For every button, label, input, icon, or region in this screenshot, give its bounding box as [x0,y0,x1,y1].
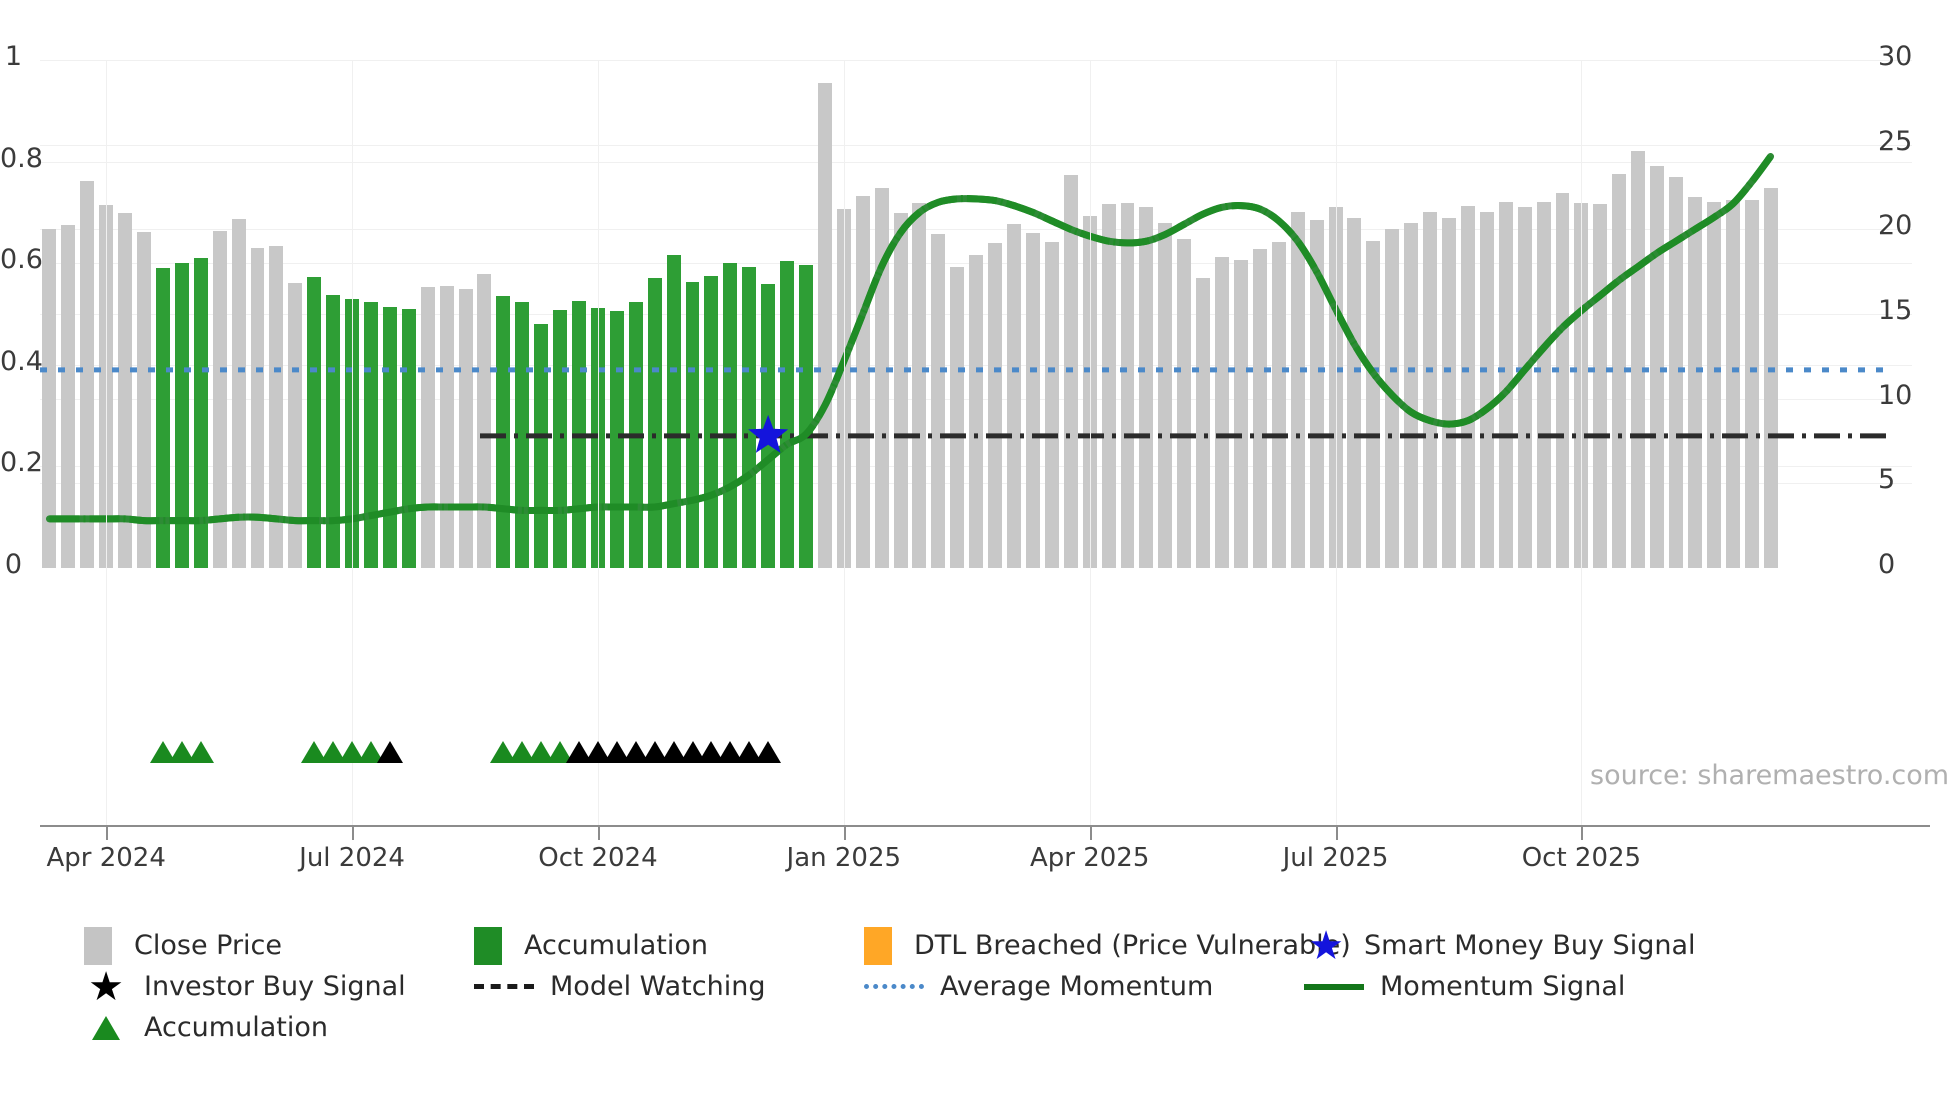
close-price-bar [213,231,227,568]
accumulation-bar [496,296,510,568]
close-price-bar [1007,224,1021,568]
close-price-bar [1764,188,1778,568]
accumulation-triangle-marker [188,741,214,763]
close-price-bar [1158,223,1172,568]
x-gridline [352,60,353,825]
x-gridline [106,60,107,825]
legend-momentum-signal[interactable]: Momentum Signal [1304,966,1684,1007]
legend-label: Investor Buy Signal [144,971,406,1002]
accumulation-bar [572,301,586,568]
triangle-up-icon [92,1016,120,1040]
close-price-bar [1688,197,1702,568]
close-price-bar [1745,200,1759,568]
close-price-bar [1234,260,1248,568]
legend-label: Accumulation [144,1012,328,1043]
legend-dotted-line [864,984,924,989]
close-price-bar [1347,218,1361,568]
x-axis-tick [1336,827,1338,840]
close-price-bar [1461,206,1475,568]
accumulation-bar [629,302,643,568]
accumulation-bar [383,307,397,568]
accumulation-bar [648,278,662,568]
close-price-bar [118,213,132,568]
close-price-bar [1366,241,1380,568]
x-axis-tick-label: Oct 2025 [1522,843,1641,873]
legend-investor-buy[interactable]: ★Investor Buy Signal [84,966,474,1007]
investor-buy-triangle-marker [377,741,403,763]
star-icon: ★ [1308,926,1344,966]
accumulation-bar [761,284,775,568]
close-price-bar [1121,203,1135,568]
close-price-bar [1045,242,1059,568]
legend-color-swatch [84,927,112,965]
accumulation-bar [799,265,813,568]
legend-label: Average Momentum [940,971,1213,1002]
legend-star-marker: ★ [1304,926,1348,966]
close-price-bar [269,246,283,568]
accumulation-bar [326,295,340,568]
close-price-bar [1291,212,1305,568]
close-price-bar [1102,204,1116,568]
close-price-bar [1404,223,1418,568]
x-axis-tick [106,827,108,840]
star-icon: ★ [88,967,124,1007]
legend-label: Accumulation [524,930,708,961]
x-axis-tick [352,827,354,840]
close-price-bar [477,274,491,568]
accumulation-bar [534,324,548,568]
close-price-bar [1631,151,1645,568]
close-price-bar [440,286,454,568]
source-attribution: source: sharemaestro.com [1590,760,1949,791]
close-price-bar [818,83,832,568]
close-price-bar [1499,202,1513,568]
close-price-bar [1669,177,1683,568]
x-axis-tick-label: Jan 2025 [787,843,902,873]
close-price-bar [42,229,56,568]
accumulation-bar [402,309,416,568]
legend-label: Model Watching [550,971,765,1002]
close-price-bar [1593,204,1607,568]
close-price-bar [1518,207,1532,568]
close-price-bar [61,225,75,568]
legend-accumulation-bar[interactable]: Accumulation [474,925,864,966]
legend-row: Close PriceAccumulationDTL Breached (Pri… [84,925,1884,966]
legend-label: Momentum Signal [1380,971,1625,1002]
x-axis-tick [1581,827,1583,840]
x-axis-tick-label: Oct 2024 [538,843,657,873]
legend-smart-money-buy[interactable]: ★Smart Money Buy Signal [1304,925,1684,966]
legend-color-swatch [864,927,892,965]
close-price-bar [950,267,964,568]
close-price-bar [1064,175,1078,568]
close-price-bar [1177,239,1191,568]
legend-average-momentum[interactable]: Average Momentum [864,966,1304,1007]
x-axis-tick [844,827,846,840]
x-axis-tick-label: Jul 2024 [299,843,405,873]
accumulation-bar [553,310,567,568]
legend-star-marker: ★ [84,967,128,1007]
close-price-bar [856,196,870,568]
close-price-bar [1537,202,1551,568]
close-price-bar [1310,220,1324,568]
close-price-bar [421,287,435,568]
close-price-bar [1026,233,1040,568]
accumulation-bar [515,302,529,568]
close-price-bar [459,289,473,568]
close-price-bar [1480,212,1494,568]
accumulation-bar [175,263,189,568]
accumulation-bar [686,282,700,569]
accumulation-bar [742,267,756,568]
accumulation-bar [610,311,624,568]
legend-label: DTL Breached (Price Vulnerable) [914,930,1351,961]
x-gridline [598,60,599,825]
x-axis-baseline [40,825,1930,827]
accumulation-bar [667,255,681,568]
accumulation-bar [156,268,170,568]
close-price-bar [1612,174,1626,568]
chart-root: 00.20.40.60.81 051015202530 Apr 2024Jul … [0,0,1960,1102]
legend-model-watching[interactable]: Model Watching [474,966,864,1007]
close-price-bar [137,232,151,568]
legend-row: Accumulation [84,1007,1884,1048]
x-gridline [1581,60,1582,825]
accumulation-bar [307,277,321,568]
chart-legend: Close PriceAccumulationDTL Breached (Pri… [84,925,1884,1048]
accumulation-bar [780,261,794,568]
close-price-bar [1442,218,1456,568]
legend-label: Close Price [134,930,282,961]
close-price-bar [931,234,945,568]
investor-buy-triangle-marker [755,741,781,763]
close-price-bar [1707,202,1721,568]
legend-close-price[interactable]: Close Price [84,925,474,966]
legend-solid-line [1304,984,1364,990]
x-gridline [1336,60,1337,825]
x-gridline [1090,60,1091,825]
x-gridline [844,60,845,825]
legend-dashed-line [474,984,534,989]
accumulation-bar [364,302,378,568]
close-price-bar [1423,212,1437,568]
legend-dtl-breached[interactable]: DTL Breached (Price Vulnerable) [864,925,1304,966]
close-price-bar [1196,278,1210,568]
x-axis-tick-label: Apr 2025 [1030,843,1149,873]
close-price-bar [1650,166,1664,568]
close-price-bar [912,203,926,568]
close-price-bar [80,181,94,568]
accumulation-bar [704,276,718,568]
accumulation-bar [723,263,737,568]
x-axis-tick [1090,827,1092,840]
legend-accumulation-marker[interactable]: Accumulation [84,1007,474,1048]
close-price-bar [288,283,302,568]
close-price-bar [1139,207,1153,568]
close-price-bar [232,219,246,568]
close-price-bar [875,188,889,568]
legend-label: Smart Money Buy Signal [1364,930,1696,961]
close-price-bar [988,243,1002,568]
close-price-bar [1726,200,1740,568]
x-axis-tick [598,827,600,840]
close-price-bar [894,213,908,568]
close-price-bar [1253,249,1267,568]
accumulation-bar [194,258,208,568]
x-axis-tick-label: Jul 2025 [1283,843,1389,873]
close-price-bar [1272,242,1286,568]
close-price-bar [251,248,265,568]
bar-series [0,0,1960,568]
legend-row: ★Investor Buy SignalModel WatchingAverag… [84,966,1884,1007]
x-axis-tick-label: Apr 2024 [46,843,165,873]
close-price-bar [1215,257,1229,568]
close-price-bar [1556,193,1570,568]
legend-color-swatch [474,927,502,965]
legend-triangle-marker [84,1016,128,1040]
close-price-bar [1385,229,1399,568]
close-price-bar [969,255,983,568]
